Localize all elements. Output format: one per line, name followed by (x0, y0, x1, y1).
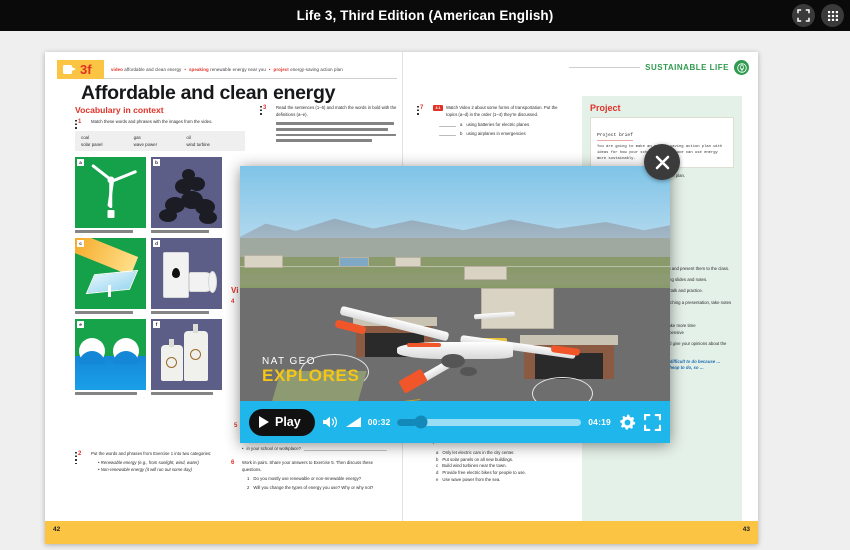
exercise-7-section: 7 3.1 Watch Video 2 about some forms of … (417, 105, 569, 138)
video-subsection-heading: Vi (231, 286, 238, 295)
exercise-7-instruction: Watch Video 2 about some forms of transp… (446, 105, 569, 118)
page-footer-bar: 42 43 (45, 521, 758, 544)
video-item-5: 5 (234, 423, 237, 429)
option-label: b (460, 131, 462, 138)
oil-image: d (151, 238, 222, 309)
image-caption-blur (75, 230, 133, 233)
grid-menu-icon (827, 10, 839, 22)
text-blur-line (276, 122, 394, 125)
word-bank-item: wind turbine (186, 142, 239, 147)
exercise-6-question: 2 Will you change the types of energy yo… (242, 485, 387, 492)
exercise-7-number: 7 (420, 105, 423, 111)
image-label: f (153, 321, 160, 328)
exercise-1-instruction: Match these words and phrases with the i… (87, 119, 245, 126)
meta-speaking-label: speaking (189, 67, 209, 72)
meta-sep-1: • (184, 67, 186, 72)
sustainable-rule (569, 67, 640, 68)
exercise-6-number: 6 (231, 460, 234, 466)
image-cell-e: e (75, 319, 146, 395)
answer-line (439, 126, 456, 128)
exercise-2-item: • Renewable energy (e.g., from sunlight,… (87, 460, 247, 467)
question-number: 2 (247, 485, 249, 492)
exercise-5-bullet: • in your school or workplace? (242, 446, 387, 453)
text-blur-line (276, 139, 372, 142)
close-icon (654, 154, 671, 171)
speaking-option: e Use wave power from the sea. (436, 477, 572, 484)
option-label: c (436, 463, 438, 470)
grid-menu-button[interactable] (821, 4, 844, 27)
unit-header: 3f video affordable and clean energy • s… (57, 60, 397, 79)
answer-line (304, 450, 387, 452)
exercise-6-question: 1 Do you mostly use renewable or non-ren… (242, 476, 387, 483)
option-label: a (436, 450, 438, 457)
coal-image: b (151, 157, 222, 228)
vocabulary-section: Vocabulary in context 1 Match these word… (75, 105, 245, 395)
word-bank: coal gas oil solar panel wave power wind… (75, 131, 245, 151)
text-blur-line (276, 134, 396, 137)
progress-handle[interactable] (415, 416, 428, 429)
image-label: c (77, 240, 84, 247)
exercise-7-option: a using batteries for electric planes (439, 122, 569, 129)
exercise-2-item-text: Non-renewable energy (it will run out so… (101, 467, 192, 472)
progress-scrubber[interactable] (397, 419, 581, 426)
image-cell-d: d (151, 238, 222, 314)
exercise-7-option: b using airplanes in emergencies (439, 131, 569, 138)
exercise-1: 1 Match these words and phrases with the… (75, 119, 245, 126)
exercise-7-bullet-rule (417, 106, 419, 117)
duration-time: 04:19 (588, 417, 611, 427)
exercise-2: 2 Put the words and phrases from Exercis… (75, 451, 247, 474)
option-label: b (436, 457, 438, 464)
meta-project-label: project (274, 67, 289, 72)
sustainable-life-header: SUSTAINABLE LIFE (569, 60, 749, 75)
solar-panel-image: c (75, 238, 146, 309)
speaking-option: a Only let electric cars in the city cen… (436, 450, 572, 457)
book-viewer[interactable]: 3f video affordable and clean energy • s… (0, 31, 850, 550)
speaking-option-text: Only let electric cars in the city cente… (442, 450, 514, 457)
speaking-option: d Provide free electric bikes for people… (436, 470, 572, 477)
image-caption-blur (151, 230, 209, 233)
speaker-icon (322, 415, 339, 429)
vocabulary-image-grid: a b (75, 157, 245, 395)
image-cell-c: c (75, 238, 146, 314)
image-label: b (153, 159, 160, 166)
unit-header-meta: video affordable and clean energy • spea… (104, 60, 397, 79)
exercise-2-number: 2 (78, 451, 81, 457)
volume-button[interactable] (322, 415, 339, 429)
project-brief-title: Project brief (597, 133, 633, 141)
natgeo-line-2: EXPLORES (262, 366, 359, 386)
play-label: Play (275, 415, 301, 429)
word-bank-item: wave power (134, 142, 187, 147)
close-video-button[interactable] (644, 144, 680, 180)
wave-power-image: e (75, 319, 146, 390)
question-number: 1 (247, 476, 249, 483)
fullscreen-icon (797, 9, 810, 22)
video-badge: 3.1 (433, 105, 443, 111)
image-caption-blur (75, 392, 137, 395)
option-label: a (460, 122, 462, 129)
text-blur-line (276, 128, 388, 131)
current-time: 00:32 (368, 417, 391, 427)
exercise-3-instruction: Read the sentences (1–5) and match the w… (272, 105, 412, 118)
exercise-2-item: • Non-renewable energy (it will run out … (87, 467, 247, 474)
player-fullscreen-button[interactable] (644, 414, 661, 431)
page-title: Affordable and clean energy (81, 82, 335, 105)
exercise-6-question-text: Will you change the types of energy you … (253, 485, 373, 492)
page-number-right: 43 (743, 526, 750, 533)
fullscreen-icon (644, 414, 661, 431)
unit-tag: 3f (57, 60, 104, 79)
window-title: Life 3, Third Edition (American English) (297, 8, 554, 23)
exercise-2-item-text: Renewable energy (e.g., from sunlight, w… (101, 460, 199, 465)
word-bank-item: gas (134, 135, 187, 140)
meta-project-text: energy-saving action plan (290, 67, 343, 72)
meta-sep-2: • (269, 67, 271, 72)
sustainable-life-label: SUSTAINABLE LIFE (645, 63, 729, 72)
speaking-option-text: Provide free electric bikes for people t… (442, 470, 526, 477)
speaking-option-text: Put solar panels on all new buildings. (442, 457, 513, 464)
image-label: a (77, 159, 84, 166)
exercise-3-bullet-rule (260, 106, 262, 117)
video-item-4: 4 (231, 299, 238, 305)
window-title-bar: Life 3, Third Edition (American English) (0, 0, 850, 31)
speaking-option-text: Build wind turbines near the town. (442, 463, 507, 470)
meta-video-text: affordable and clean energy (124, 67, 181, 72)
unit-number: 3f (80, 63, 92, 76)
word-bank-item: oil (186, 135, 239, 140)
image-caption-blur (151, 392, 213, 395)
exercise-7-option-text: using airplanes in emergencies (466, 131, 525, 138)
speaking-option: b Put solar panels on all new buildings. (436, 457, 572, 464)
exercise-6-instruction: Work in pairs. Share your answers to Exe… (242, 460, 387, 473)
exercise-2-instruction: Put the words and phrases from Exercise … (87, 451, 247, 458)
video-player-controls[interactable]: Play 00:32 04:19 (240, 401, 670, 443)
video-camera-icon (63, 65, 76, 74)
airplane-graphic (335, 305, 576, 394)
play-button[interactable]: Play (249, 409, 315, 436)
natgeo-brand: NAT GEO EXPLORES (262, 356, 359, 386)
page-number-left: 42 (53, 526, 60, 533)
gas-image: f (151, 319, 222, 390)
option-label: e (436, 477, 438, 484)
exercise-3-number: 3 (263, 105, 266, 111)
play-icon (259, 416, 269, 428)
image-label: d (153, 240, 160, 247)
image-cell-a: a (75, 157, 146, 233)
speaking-option-text: Use wave power from the sea. (442, 477, 500, 484)
speaking-option: c Build wind turbines near the town. (436, 463, 572, 470)
image-label: e (77, 321, 84, 328)
gear-icon (618, 413, 637, 432)
video-subsection: Vi 4 (231, 286, 238, 305)
exercise-6-question-text: Do you mostly use renewable or non-renew… (253, 476, 361, 483)
window-controls (792, 4, 844, 27)
settings-button[interactable] (618, 413, 637, 432)
image-cell-b: b (151, 157, 222, 233)
exercise-1-bullet-rule (75, 120, 77, 131)
volume-slider[interactable] (346, 417, 361, 427)
exercise-3-section: 3 Read the sentences (1–5) and match the… (260, 105, 412, 142)
project-heading: Project (590, 103, 734, 113)
exercise-1-number: 1 (78, 119, 81, 125)
word-bank-item: coal (81, 135, 134, 140)
fullscreen-button[interactable] (792, 4, 815, 27)
meta-speaking-text: renewable energy near you (210, 67, 266, 72)
option-label: d (436, 470, 438, 477)
image-caption-blur (151, 311, 209, 314)
word-bank-item: solar panel (81, 142, 134, 147)
exercise-7-option-text: using batteries for electric planes (466, 122, 529, 129)
exercise-5-bullet-text: in your school or workplace? (247, 446, 301, 453)
wind-turbine-image: a (75, 157, 146, 228)
bullet-dash-icon: • (242, 446, 244, 453)
image-caption-blur (75, 311, 133, 314)
vocabulary-heading: Vocabulary in context (75, 105, 245, 115)
meta-video-label: video (111, 67, 123, 72)
app-root: Life 3, Third Edition (American English) (0, 0, 850, 550)
image-cell-f: f (151, 319, 222, 395)
answer-line (439, 135, 456, 137)
sustainable-life-badge-icon (734, 60, 749, 75)
